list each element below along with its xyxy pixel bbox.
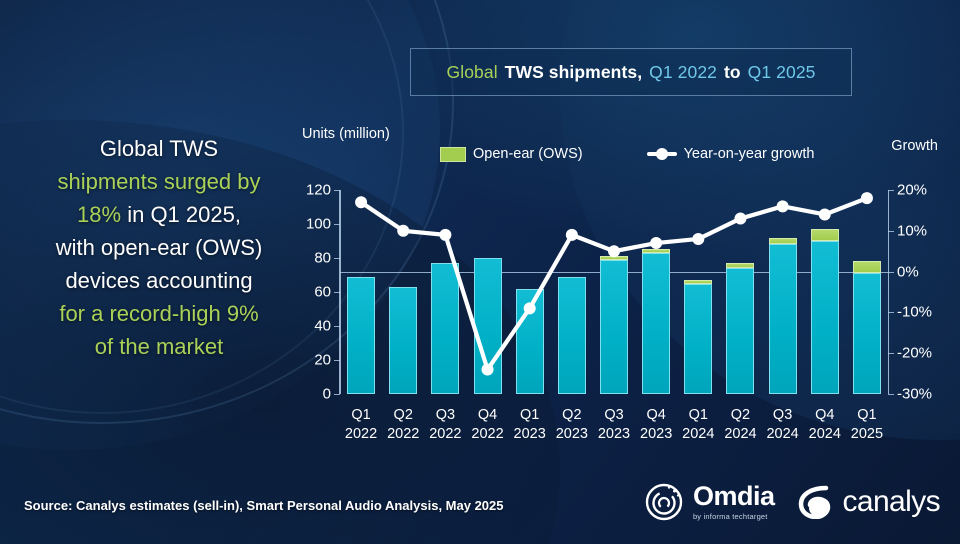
legend-line-marker-icon (647, 152, 677, 156)
y2-tick-mark (888, 231, 894, 232)
x-axis-label: Q12025 (851, 406, 883, 444)
x-axis-label: Q12023 (514, 406, 546, 444)
y2-tick-mark (888, 272, 894, 273)
y-tick-mark (334, 394, 340, 395)
y2-tick-mark (888, 353, 894, 354)
x-label-quarter: Q2 (562, 407, 581, 423)
omdia-name: Omdia (693, 483, 775, 510)
x-axis-label: Q42023 (640, 406, 672, 444)
x-label-quarter: Q1 (351, 407, 370, 423)
y2-tick-label: 10% (897, 222, 927, 239)
y-axis-title: Units (million) (302, 126, 390, 142)
x-label-quarter: Q3 (436, 407, 455, 423)
omdia-mark-icon (644, 482, 684, 522)
x-label-quarter: Q4 (646, 407, 665, 423)
x-label-year: 2024 (682, 426, 714, 442)
y-tick-label: 20 (314, 352, 331, 369)
title-part-start: Q1 2022 (648, 62, 718, 83)
x-label-year: 2022 (471, 426, 503, 442)
headline-line-2: shipments surged by (58, 169, 261, 194)
x-axis-label: Q42022 (471, 406, 503, 444)
canalys-name: canalys (842, 485, 940, 519)
growth-data-point[interactable] (819, 208, 831, 220)
x-label-quarter: Q1 (857, 407, 876, 423)
x-label-year: 2024 (724, 426, 756, 442)
y2-tick-mark (888, 394, 894, 395)
x-label-year: 2023 (514, 426, 546, 442)
x-label-year: 2022 (429, 426, 461, 442)
growth-data-point[interactable] (439, 229, 451, 241)
growth-data-point[interactable] (566, 229, 578, 241)
source-note: Source: Canalys estimates (sell-in), Sma… (24, 498, 504, 513)
title-part-to: to (723, 62, 742, 83)
y2-axis-title: Growth (891, 138, 938, 154)
growth-data-point[interactable] (777, 200, 789, 212)
y-tick-label: 120 (306, 182, 331, 199)
chart-area: Units (million) Growth Open-ear (OWS) Ye… (300, 128, 940, 458)
y2-tick-label: 0% (897, 263, 919, 280)
y-tick-label: 80 (314, 250, 331, 267)
x-label-quarter: Q2 (394, 407, 413, 423)
x-axis-label: Q42024 (809, 406, 841, 444)
x-label-year: 2025 (851, 426, 883, 442)
legend-swatch-icon (440, 147, 466, 162)
growth-data-point[interactable] (397, 225, 409, 237)
y2-tick-mark (888, 190, 894, 191)
x-label-year: 2023 (598, 426, 630, 442)
y-tick-label: 60 (314, 284, 331, 301)
y2-tick-label: 20% (897, 182, 927, 199)
x-axis-label: Q22023 (556, 406, 588, 444)
x-label-year: 2023 (640, 426, 672, 442)
growth-data-point[interactable] (861, 192, 873, 204)
y2-tick-label: -30% (897, 386, 932, 403)
x-label-quarter: Q3 (773, 407, 792, 423)
omdia-subtitle: by informa techtarget (693, 513, 775, 521)
headline-line-5: devices accounting (65, 268, 252, 293)
growth-line-path (361, 198, 867, 369)
x-label-quarter: Q1 (689, 407, 708, 423)
x-label-quarter: Q4 (815, 407, 834, 423)
plot-area: 020406080100120 -30%-20%-10%0%10%20% Q12… (340, 190, 888, 394)
title-part-tws: TWS shipments, (504, 62, 644, 83)
x-axis-label: Q22024 (724, 406, 756, 444)
slide-canvas: Global TWS shipments, Q1 2022 to Q1 2025… (0, 0, 960, 544)
growth-data-point[interactable] (608, 245, 620, 257)
headline-line-7: of the market (95, 334, 223, 359)
y2-tick-label: -20% (897, 345, 932, 362)
x-axis-label: Q32023 (598, 406, 630, 444)
x-axis-label: Q32022 (429, 406, 461, 444)
x-axis-label: Q12022 (345, 406, 377, 444)
x-label-quarter: Q1 (520, 407, 539, 423)
logo-group: Omdia by informa techtarget canalys (644, 482, 940, 522)
headline-line-1: Global TWS (100, 136, 218, 161)
headline-text: Global TWS shipments surged by 18% in Q1… (18, 132, 300, 363)
growth-line-series (340, 190, 888, 394)
x-label-quarter: Q2 (731, 407, 750, 423)
growth-data-point[interactable] (734, 213, 746, 225)
title-part-global: Global (446, 62, 499, 83)
omdia-wordmark: Omdia by informa techtarget (693, 483, 775, 521)
y-tick-label: 100 (306, 216, 331, 233)
canalys-logo: canalys (796, 485, 940, 519)
headline-line-6: for a record-high 9% (59, 301, 258, 326)
x-axis-label: Q12024 (682, 406, 714, 444)
headline-line-3-rest: in Q1 2025, (127, 202, 241, 227)
canalys-mark-icon (796, 485, 834, 519)
x-axis-label: Q22022 (387, 406, 419, 444)
legend-label-ows: Open-ear (OWS) (473, 146, 583, 162)
growth-data-point[interactable] (650, 237, 662, 249)
x-axis-label: Q32024 (766, 406, 798, 444)
growth-data-point[interactable] (482, 364, 494, 376)
x-label-year: 2022 (345, 426, 377, 442)
y2-tick-label: -10% (897, 304, 932, 321)
x-label-quarter: Q3 (604, 407, 623, 423)
x-label-quarter: Q4 (478, 407, 497, 423)
growth-data-point[interactable] (692, 233, 704, 245)
headline-line-3-pct: 18% (77, 202, 121, 227)
y-tick-label: 0 (323, 386, 331, 403)
omdia-logo: Omdia by informa techtarget (644, 482, 775, 522)
y-tick-label: 40 (314, 318, 331, 335)
x-label-year: 2023 (556, 426, 588, 442)
x-label-year: 2024 (809, 426, 841, 442)
growth-data-point[interactable] (355, 196, 367, 208)
headline-line-4: with open-ear (OWS) (56, 235, 263, 260)
title-part-end: Q1 2025 (747, 62, 817, 83)
chart-legend: Open-ear (OWS) Year-on-year growth (440, 146, 814, 162)
x-label-year: 2022 (387, 426, 419, 442)
legend-item-ows: Open-ear (OWS) (440, 146, 583, 162)
legend-item-growth: Year-on-year growth (647, 146, 815, 162)
legend-label-growth: Year-on-year growth (684, 146, 815, 162)
x-label-year: 2024 (766, 426, 798, 442)
growth-data-point[interactable] (524, 302, 536, 314)
chart-title-banner: Global TWS shipments, Q1 2022 to Q1 2025 (410, 48, 852, 96)
y2-tick-mark (888, 312, 894, 313)
